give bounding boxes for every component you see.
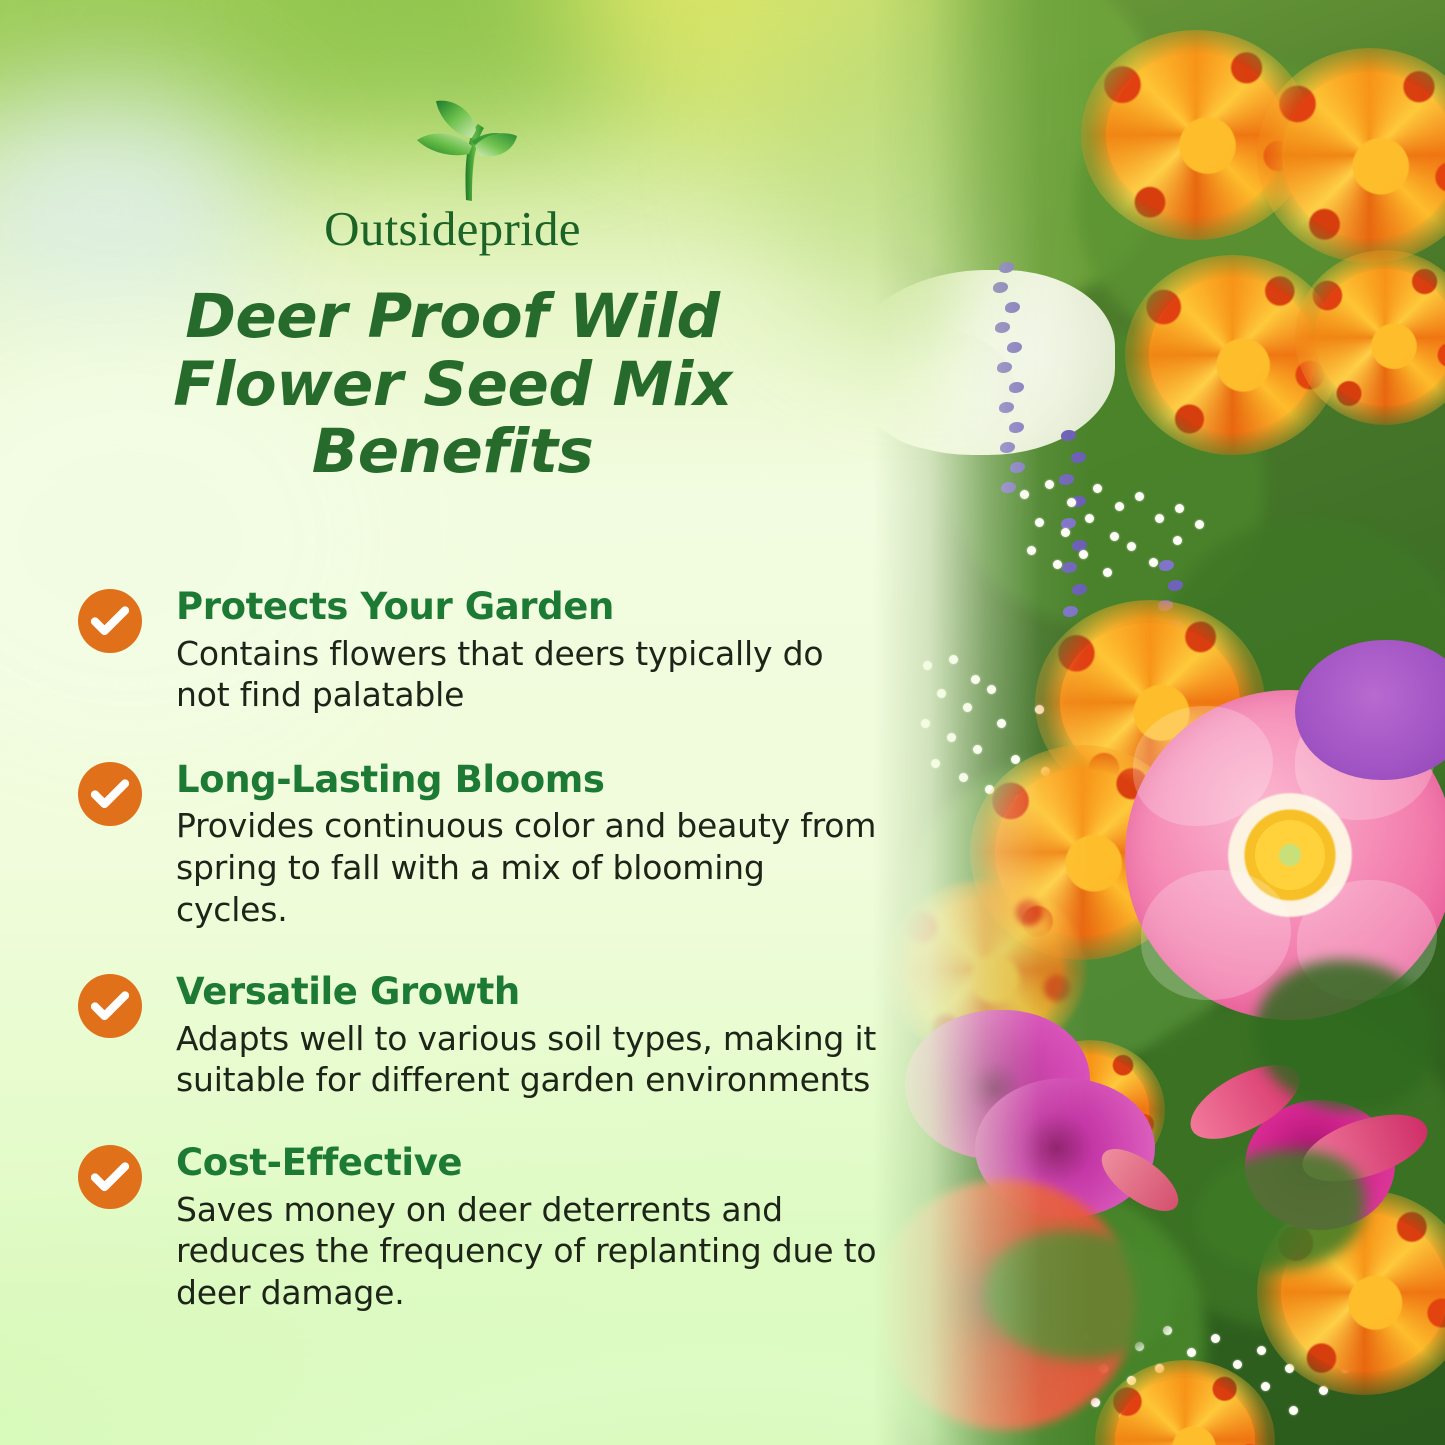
benefit-title: Long-Lasting Blooms — [176, 758, 878, 802]
benefit-title: Protects Your Garden — [176, 585, 878, 629]
benefit-item: Versatile Growth Adapts well to various … — [78, 970, 878, 1101]
page-title: Deer Proof Wild Flower Seed Mix Benefits — [0, 283, 905, 486]
spacer — [78, 930, 878, 970]
title-line-1: Deer Proof Wild — [185, 281, 719, 352]
brand-logo[interactable]: Outsidepride — [0, 96, 905, 253]
title-line-2: Flower Seed Mix — [173, 349, 732, 420]
check-circle-icon — [78, 589, 142, 653]
title-line-3: Benefits — [312, 416, 594, 487]
content-panel: Outsidepride Deer Proof Wild Flower Seed… — [0, 0, 905, 1445]
benefit-title: Versatile Growth — [176, 970, 878, 1014]
benefit-description: Contains flowers that deers typically do… — [176, 633, 878, 716]
three-leaf-sprout-icon — [373, 96, 533, 208]
check-circle-icon — [78, 974, 142, 1038]
spacer — [78, 716, 878, 758]
benefit-description: Adapts well to various soil types, makin… — [176, 1018, 878, 1101]
benefits-list: Protects Your Garden Contains flowers th… — [78, 585, 878, 1313]
alyssum-cluster — [1015, 480, 1225, 610]
promo-banner: Outsidepride Deer Proof Wild Flower Seed… — [0, 0, 1445, 1445]
benefit-description: Saves money on deer deterrents and reduc… — [176, 1189, 878, 1314]
brand-wordmark: Outsidepride — [0, 204, 905, 253]
benefit-item: Protects Your Garden Contains flowers th… — [78, 585, 878, 716]
benefit-item: Long-Lasting Blooms Provides continuous … — [78, 758, 878, 930]
salvia-spike — [991, 262, 1031, 512]
benefit-description: Provides continuous color and beauty fro… — [176, 805, 878, 930]
benefit-item: Cost-Effective Saves money on deer deter… — [78, 1141, 878, 1313]
spacer — [78, 1101, 878, 1141]
benefit-title: Cost-Effective — [176, 1141, 878, 1185]
wildflower-photo — [825, 0, 1445, 1445]
check-circle-icon — [78, 1145, 142, 1209]
check-circle-icon — [78, 762, 142, 826]
